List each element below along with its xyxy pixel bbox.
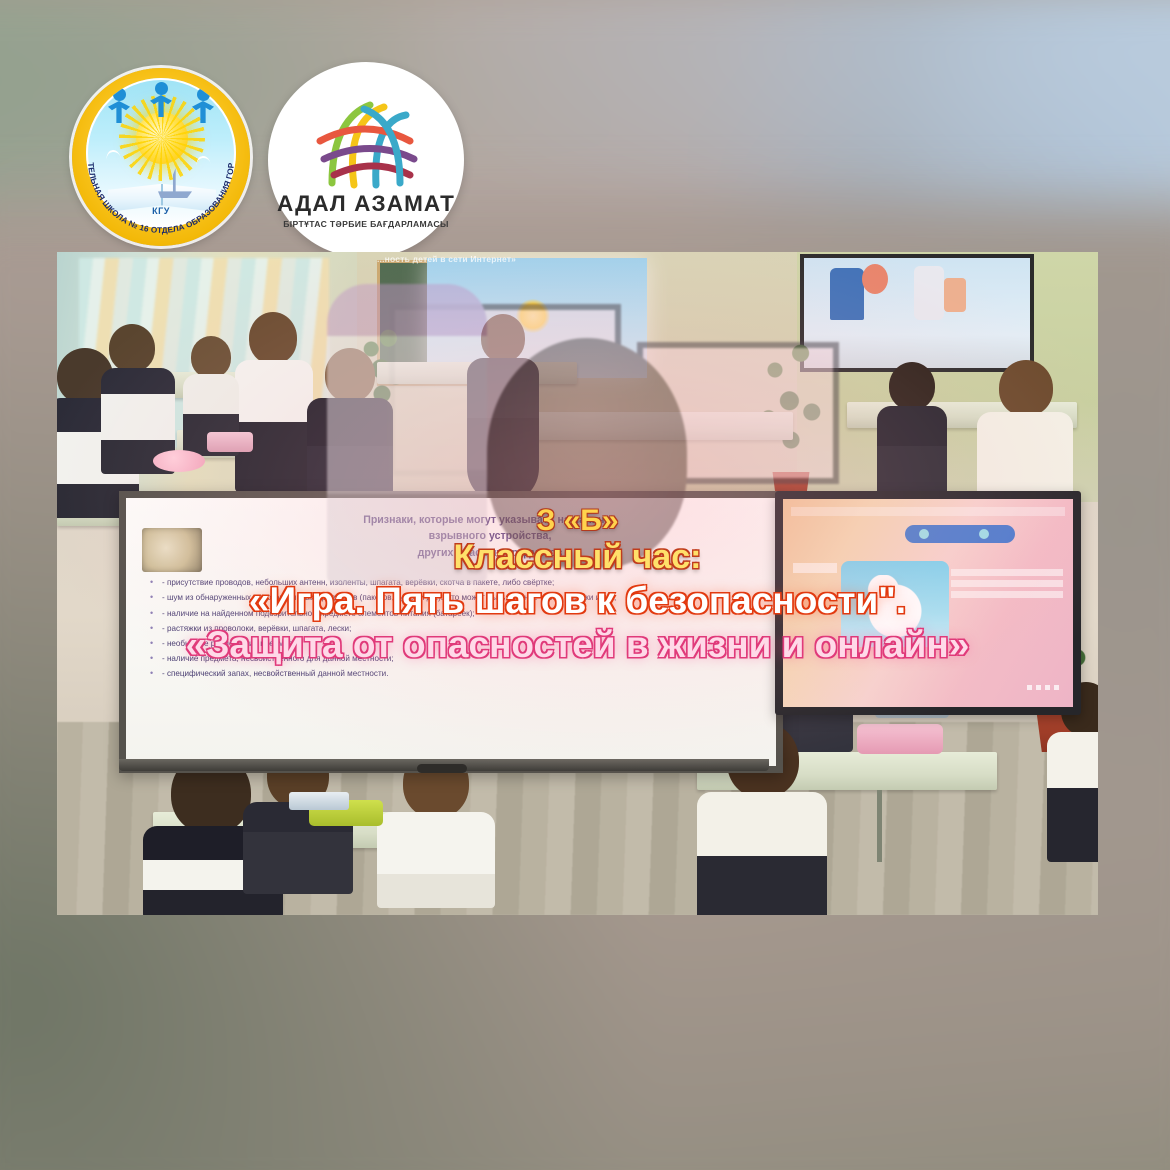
classroom-scene: Признаки, которые могут указывать на нал… — [57, 252, 1098, 915]
classroom-photo: Признаки, которые могут указывать на нал… — [57, 252, 1098, 915]
photo-top-overlay-text: ...ность детей в сети Интернет» — [377, 254, 516, 264]
school-emblem: КГУ ОБЩЕОБРАЗОВАТЕЛЬНАЯ ШКОЛА № 16 ОТДЕЛ… — [72, 68, 250, 246]
school-emblem-ring-text: ОБЩЕОБРАЗОВАТЕЛЬНАЯ ШКОЛА № 16 ОТДЕЛА ОБ… — [72, 68, 250, 246]
adal-azamat-title: АДАЛ АЗАМАТ — [277, 193, 455, 216]
logo-group: КГУ ОБЩЕОБРАЗОВАТЕЛЬНАЯ ШКОЛА № 16 ОТДЕЛ… — [72, 68, 492, 254]
adal-azamat-mark-icon — [314, 97, 418, 189]
adal-azamat-subtitle: БІРТҰТАС ТӘРБИЕ БАҒДАРЛАМАСЫ — [283, 219, 448, 229]
adal-azamat-logo: АДАЛ АЗАМАТ БІРТҰТАС ТӘРБИЕ БАҒДАРЛАМАСЫ — [268, 62, 464, 258]
svg-text:ОБЩЕОБРАЗОВАТЕЛЬНАЯ ШКОЛА № 16: ОБЩЕОБРАЗОВАТЕЛЬНАЯ ШКОЛА № 16 ОТДЕЛА ОБ… — [72, 68, 236, 235]
pink-light-leak — [57, 252, 1098, 915]
